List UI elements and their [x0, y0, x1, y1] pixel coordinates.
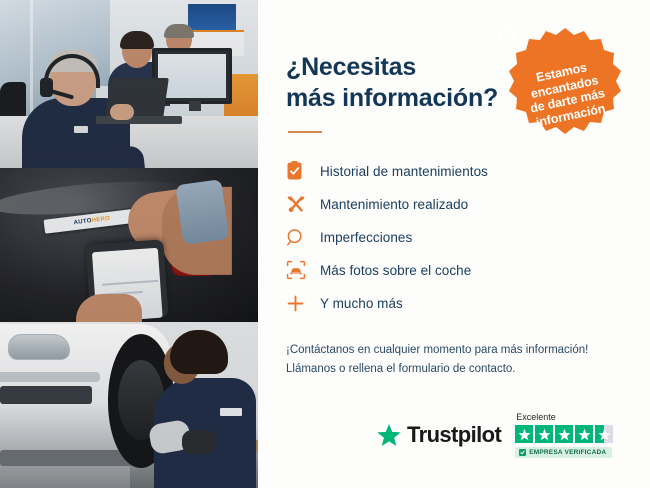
- headset-icon: [497, 26, 516, 43]
- tablet-line: [102, 280, 158, 286]
- headset-earcup: [40, 78, 53, 97]
- star-filled: [535, 425, 553, 443]
- front-agent-hand: [110, 104, 134, 120]
- trustpilot-widget[interactable]: Trustpilot Excelente: [376, 412, 613, 458]
- star-filled: [515, 425, 533, 443]
- feature-item-mucho-mas: Y mucho más: [286, 287, 650, 319]
- feature-label: Historial de mantenimientos: [320, 164, 488, 179]
- feature-label: Mantenimiento realizado: [320, 197, 468, 212]
- trustpilot-rating-label: Excelente: [516, 412, 556, 422]
- feature-item-imperfecciones: Imperfecciones: [286, 221, 650, 253]
- headline-line-1: ¿Necesitas: [286, 53, 416, 81]
- feature-list: Historial de mantenimientos Mantenimient…: [286, 155, 650, 319]
- mechanic: [146, 330, 256, 488]
- verified-label: EMPRESA VERIFICADA: [529, 449, 606, 456]
- star-half: [595, 425, 613, 443]
- trustpilot-logo[interactable]: Trustpilot: [376, 422, 501, 448]
- ruler-brand-suffix: HERO: [91, 216, 110, 224]
- crossed-tools-icon: [286, 192, 320, 216]
- second-agent-hair: [120, 31, 154, 49]
- mechanic-hair: [170, 330, 228, 374]
- call-center-agents-photo: [0, 0, 258, 168]
- car-headlight: [8, 334, 70, 360]
- inspector-hand-holding-tablet: [76, 294, 142, 322]
- vehicle-inspection-photo: AUTOHERO: [0, 168, 258, 322]
- feature-label: Y mucho más: [320, 296, 403, 311]
- feature-item-mantenimiento: Mantenimiento realizado: [286, 188, 650, 220]
- clipboard-check-icon: [286, 159, 320, 183]
- mechanic-tool: [182, 430, 216, 454]
- magnifier-icon: [286, 225, 320, 249]
- name-badge: [74, 126, 88, 133]
- support-badge: Estamos encantados de darte más informac…: [506, 26, 624, 144]
- feature-label: Imperfecciones: [320, 230, 412, 245]
- ruler-brand: AUTOHERO: [73, 216, 110, 226]
- photo-column: AUTOHERO: [0, 0, 258, 488]
- check-icon: [519, 449, 526, 456]
- trustpilot-rating: Excelente: [515, 412, 613, 458]
- contact-text: ¡Contáctanos en cualquier momento para m…: [286, 341, 646, 378]
- info-banner: AUTOHERO: [0, 0, 650, 488]
- feature-item-fotos: Más fotos sobre el coche: [286, 254, 650, 286]
- feature-item-historial: Historial de mantenimientos: [286, 155, 650, 187]
- car-scan-icon: [286, 258, 320, 282]
- trustpilot-wordmark: Trustpilot: [407, 422, 501, 448]
- mechanic-wheel-photo: [0, 322, 258, 488]
- car-grille: [0, 386, 92, 404]
- verified-company-badge: EMPRESA VERIFICADA: [515, 447, 612, 458]
- star-filled: [575, 425, 593, 443]
- feature-label: Más fotos sobre el coche: [320, 263, 471, 278]
- title-divider: [288, 131, 322, 133]
- laptop-base: [96, 116, 182, 124]
- mechanic-logo: [220, 408, 242, 416]
- car-bumper: [0, 372, 100, 382]
- contact-line-2: Llámanos o rellena el formulario de cont…: [286, 360, 646, 379]
- content-panel: ¿Necesitas más información? Historial de…: [258, 0, 650, 488]
- headline-line-2: más información?: [286, 83, 536, 114]
- inspector-sleeve: [175, 179, 229, 245]
- star-filled: [555, 425, 573, 443]
- ruler-brand-prefix: AUTO: [73, 218, 92, 226]
- plus-icon: [286, 291, 320, 315]
- page-title: ¿Necesitas más información?: [286, 52, 536, 113]
- trustpilot-stars: [515, 425, 613, 443]
- trustpilot-star-icon: [376, 423, 402, 448]
- contact-line-1: ¡Contáctanos en cualquier momento para m…: [286, 341, 646, 360]
